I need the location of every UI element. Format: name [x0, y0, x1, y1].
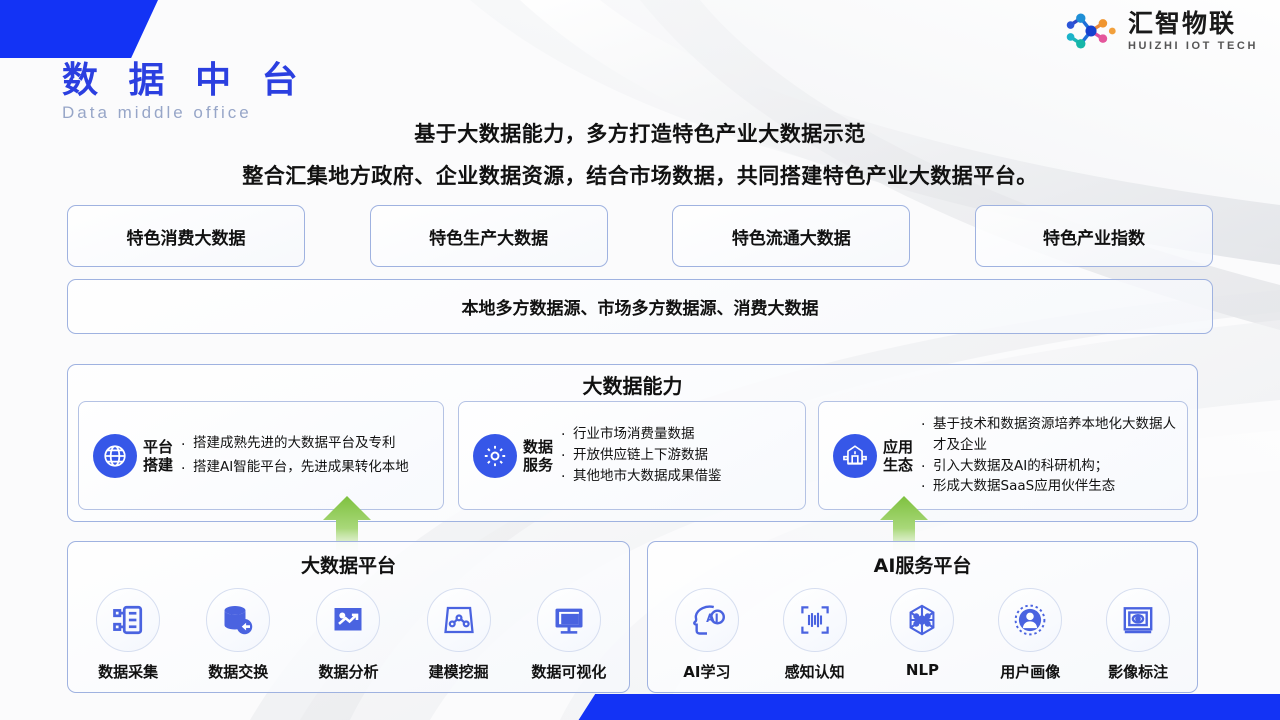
platform-item[interactable]: 用户画像 [978, 588, 1082, 682]
logo-name-en: HUIZHI IOT TECH [1128, 41, 1258, 52]
capability-item-name-line1: 平台 [143, 438, 173, 456]
brand-logo: 汇智物联 HUIZHI IOT TECH [1063, 8, 1258, 54]
capability-bullet-text: 其他地市大数据成果借鉴 [573, 468, 722, 484]
platform-item-label: 感知认知 [785, 661, 845, 682]
data-visual-icon [537, 588, 601, 652]
top-category-box[interactable]: 特色产业指数 [975, 205, 1213, 267]
data-collect-icon [96, 588, 160, 652]
capability-bullet-text: 形成大数据SaaS应用伙伴生态 [933, 478, 1115, 494]
nlp-network-icon [890, 588, 954, 652]
platform-item[interactable]: AI AI学习 [655, 588, 759, 682]
top-category-label: 特色产业指数 [976, 206, 1212, 266]
user-profile-icon [998, 588, 1062, 652]
bullet-dot: · [561, 425, 565, 447]
top-category-label: 特色流通大数据 [673, 206, 909, 266]
slide-root: 汇智物联 HUIZHI IOT TECH 数 据 中 台 Data middle… [0, 0, 1280, 720]
capability-item-ecosystem[interactable]: 应用 生态 ·基于技术和数据资源培养本地化大数据人才及企业 ·引入大数据及AI的… [818, 401, 1188, 510]
big-data-platform-icons: 数据采集 数据交换 [73, 588, 624, 682]
page-title: 数 据 中 台 Data middle office [62, 62, 307, 123]
capability-bullet-text: 开放供应链上下游数据 [573, 447, 708, 463]
platform-item-label: AI学习 [683, 661, 730, 682]
platform-item-label: 用户画像 [1000, 661, 1060, 682]
headline-secondary: 整合汇集地方政府、企业数据资源，结合市场数据，共同搭建特色产业大数据平台。 [0, 160, 1280, 190]
capability-bullet-list: ·搭建成熟先进的大数据平台及专利 ·搭建AI智能平台，先进成果转化本地 [177, 432, 437, 479]
capability-item-name-line2: 服务 [523, 456, 553, 474]
top-category-label: 特色生产大数据 [371, 206, 607, 266]
platform-item-label: 数据采集 [98, 661, 158, 682]
capability-item-name: 数据 服务 [523, 438, 553, 474]
capability-item-name-line2: 搭建 [143, 456, 173, 474]
data-exchange-icon [206, 588, 270, 652]
capability-title: 大数据能力 [0, 370, 1265, 399]
platform-item[interactable]: NLP [870, 588, 974, 682]
capability-bullet: ·基于技术和数据资源培养本地化大数据人才及企业 [933, 414, 1179, 456]
bullet-dot: · [561, 446, 565, 468]
platform-item-label: 影像标注 [1108, 661, 1168, 682]
top-category-box[interactable]: 特色生产大数据 [370, 205, 608, 267]
capability-item-dataservice[interactable]: 数据 服务 ·行业市场消费量数据 ·开放供应链上下游数据 ·其他地市大数据成果借… [458, 401, 806, 510]
capability-bullet: ·搭建成熟先进的大数据平台及专利 [193, 432, 435, 456]
data-analysis-icon [316, 588, 380, 652]
ai-head-icon: AI [675, 588, 739, 652]
platform-item[interactable]: 建模挖掘 [407, 588, 511, 682]
bullet-dot: · [921, 415, 925, 437]
capability-bullet-list: ·基于技术和数据资源培养本地化大数据人才及企业 ·引入大数据及AI的科研机构； … [917, 414, 1181, 498]
capability-bullet: ·引入大数据及AI的科研机构； [933, 456, 1179, 477]
platform-item-label: 数据可视化 [531, 661, 606, 682]
capability-bullet-text: 搭建成熟先进的大数据平台及专利 [193, 435, 396, 451]
ai-service-platform-title: AI服务平台 [647, 551, 1198, 578]
platform-item-label: NLP [906, 661, 939, 679]
top-category-label: 特色消费大数据 [68, 206, 304, 266]
corner-accent-shape [0, 0, 158, 58]
platform-item[interactable]: 数据交换 [186, 588, 290, 682]
platform-item[interactable]: 数据可视化 [517, 588, 621, 682]
capability-bullet-text: 搭建AI智能平台，先进成果转化本地 [193, 459, 409, 475]
platform-item-label: 建模挖掘 [429, 661, 489, 682]
building-icon [833, 434, 877, 478]
ai-service-platform-icons: AI AI学习 感知认知 [653, 588, 1192, 682]
capability-bullet: ·开放供应链上下游数据 [573, 445, 797, 466]
platform-item[interactable]: 影像标注 [1086, 588, 1190, 682]
top-category-row: 特色消费大数据 特色生产大数据 特色流通大数据 特色产业指数 [67, 205, 1213, 267]
headline-primary: 基于大数据能力，多方打造特色产业大数据示范 [0, 118, 1280, 148]
big-data-platform-title: 大数据平台 [67, 551, 630, 578]
capability-bullet-text: 基于技术和数据资源培养本地化大数据人才及企业 [933, 416, 1176, 453]
bullet-dot: · [181, 433, 185, 458]
capability-item-platform[interactable]: 平台 搭建 ·搭建成熟先进的大数据平台及专利 ·搭建AI智能平台，先进成果转化本… [78, 401, 444, 510]
capability-item-name: 平台 搭建 [143, 438, 173, 474]
data-source-bar[interactable]: 本地多方数据源、市场多方数据源、消费大数据 [67, 279, 1213, 334]
top-category-box[interactable]: 特色流通大数据 [672, 205, 910, 267]
globe-icon [93, 434, 137, 478]
capability-bullet-text: 引入大数据及AI的科研机构； [933, 458, 1108, 474]
molecule-network-icon [1063, 8, 1119, 54]
platform-item[interactable]: 数据采集 [76, 588, 180, 682]
capability-bullet-list: ·行业市场消费量数据 ·开放供应链上下游数据 ·其他地市大数据成果借鉴 [557, 424, 799, 487]
platform-item[interactable]: 感知认知 [763, 588, 867, 682]
capability-item-name-line2: 生态 [883, 456, 913, 474]
perception-icon [783, 588, 847, 652]
capability-bullet: ·其他地市大数据成果借鉴 [573, 466, 797, 487]
page-title-cn: 数 据 中 台 [62, 62, 307, 100]
capability-bullet-text: 行业市场消费量数据 [573, 426, 695, 442]
gear-icon [473, 434, 517, 478]
capability-bullet: ·形成大数据SaaS应用伙伴生态 [933, 476, 1179, 497]
image-label-icon [1106, 588, 1170, 652]
bullet-dot: · [921, 457, 925, 479]
data-source-label: 本地多方数据源、市场多方数据源、消费大数据 [68, 280, 1212, 333]
capability-item-name-line1: 数据 [523, 438, 553, 456]
model-mining-icon [427, 588, 491, 652]
top-category-box[interactable]: 特色消费大数据 [67, 205, 305, 267]
bullet-dot: · [181, 457, 185, 482]
platform-item-label: 数据交换 [208, 661, 268, 682]
platform-item-label: 数据分析 [318, 661, 378, 682]
capability-bullet: ·搭建AI智能平台，先进成果转化本地 [193, 456, 435, 480]
logo-name-cn: 汇智物联 [1128, 11, 1258, 36]
platform-item[interactable]: 数据分析 [296, 588, 400, 682]
capability-bullet: ·行业市场消费量数据 [573, 424, 797, 445]
capability-item-name: 应用 生态 [883, 438, 913, 474]
bullet-dot: · [561, 467, 565, 489]
capability-item-name-line1: 应用 [883, 438, 913, 456]
